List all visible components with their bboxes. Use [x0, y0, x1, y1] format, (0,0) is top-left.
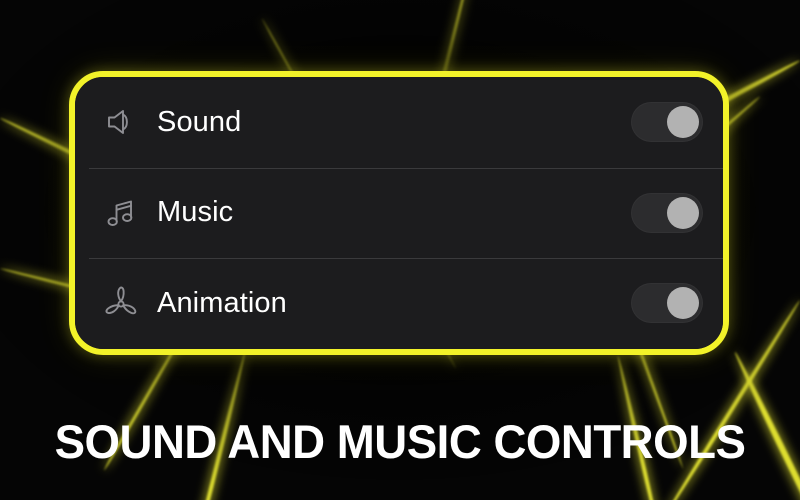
- toggle-sound[interactable]: [631, 102, 703, 142]
- setting-label-animation: Animation: [157, 289, 631, 318]
- setting-row-animation[interactable]: Animation: [75, 258, 723, 349]
- setting-row-music[interactable]: Music: [75, 168, 723, 259]
- propeller-icon: [100, 282, 142, 324]
- setting-label-sound: Sound: [157, 108, 631, 137]
- toggle-music[interactable]: [631, 193, 703, 233]
- toggle-animation[interactable]: [631, 283, 703, 323]
- music-note-icon: [100, 192, 142, 234]
- toggle-knob: [667, 197, 699, 229]
- toggle-knob: [667, 287, 699, 319]
- setting-label-music: Music: [157, 198, 631, 227]
- settings-card: Sound Music: [69, 71, 729, 355]
- toggle-knob: [667, 106, 699, 138]
- speaker-icon: [100, 101, 142, 143]
- setting-row-sound[interactable]: Sound: [75, 77, 723, 168]
- screen: Sound Music: [0, 0, 800, 500]
- page-title: SOUND AND MUSIC CONTROLS: [12, 418, 788, 465]
